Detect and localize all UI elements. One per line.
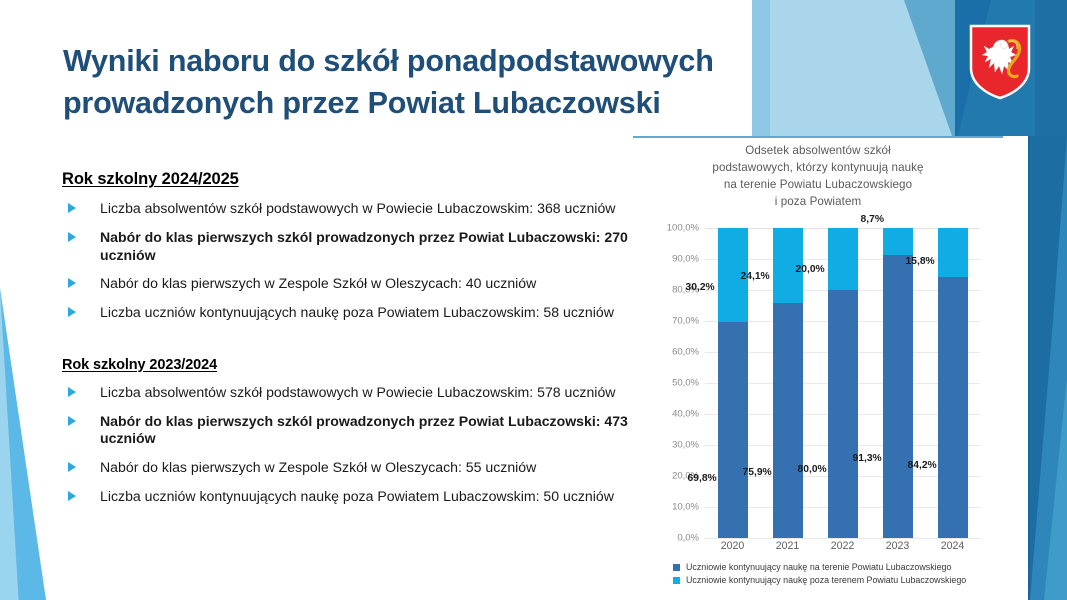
- y-axis-tick-label: 50,0%: [672, 378, 699, 389]
- bar-segment-local: [773, 303, 803, 538]
- bullet-arrow-icon: [68, 232, 76, 242]
- chart-title: Odsetek absolwentów szkół podstawowych, …: [633, 142, 1003, 211]
- header-shape-6: [1035, 0, 1067, 136]
- bullet-arrow-icon: [68, 307, 76, 317]
- list-item: Liczba uczniów kontynuujących naukę poza…: [62, 304, 632, 322]
- y-axis-tick-label: 70,0%: [672, 316, 699, 327]
- bullet-arrow-icon: [68, 203, 76, 213]
- bar-segment-local: [718, 322, 748, 538]
- y-axis-tick-label: 10,0%: [672, 502, 699, 513]
- x-axis-tick-label: 2022: [828, 540, 858, 552]
- list-item: Liczba absolwentów szkół podstawowych w …: [62, 200, 632, 218]
- list-item: Nabór do klas pierwszych szkól prowadzon…: [62, 413, 632, 449]
- legend-label: Uczniowie kontynuujący naukę na terenie …: [686, 562, 951, 572]
- list-item: Nabór do klas pierwszych w Zespole Szkół…: [62, 275, 632, 293]
- bar-segment-local: [828, 290, 858, 538]
- slide: Wyniki naboru do szkół ponadpodstawowych…: [0, 0, 1067, 600]
- y-axis-tick-label: 0,0%: [677, 533, 699, 544]
- chart-gridline: [705, 538, 980, 539]
- list-item: Nabór do klas pierwszych szkól prowadzon…: [62, 229, 632, 265]
- data-label-outside: 30,2%: [686, 282, 715, 293]
- chart-plot-area: 100,0%90,0%80,0%70,0%60,0%50,0%40,0%30,0…: [705, 228, 980, 538]
- bullet-arrow-icon: [68, 278, 76, 288]
- data-label-outside: 8,7%: [861, 214, 884, 225]
- data-label-outside: 20,0%: [796, 264, 825, 275]
- rail-divider-line: [1028, 136, 1030, 600]
- bullet-arrow-icon: [68, 462, 76, 472]
- bar-segment-outside: [938, 228, 968, 277]
- right-rail-decoration: [1000, 136, 1067, 600]
- list-item-label: Liczba absolwentów szkół podstawowych w …: [100, 200, 615, 216]
- chart-bar-2024: [938, 228, 968, 538]
- coat-of-arms-icon: [969, 24, 1031, 100]
- data-label-outside: 24,1%: [741, 271, 770, 282]
- list-item: Liczba uczniów kontynuujących naukę poza…: [62, 488, 632, 506]
- x-axis-tick-label: 2020: [718, 540, 748, 552]
- data-label-local: 75,9%: [743, 467, 772, 478]
- page-title-line-1: Wyniki naboru do szkół ponadpodstawowych: [63, 44, 714, 78]
- legend-label: Uczniowie kontynuujący naukę poza terene…: [686, 575, 966, 585]
- list-item-label: Liczba absolwentów szkół podstawowych w …: [100, 384, 615, 400]
- list-item-label: Nabór do klas pierwszych szkól prowadzon…: [100, 229, 628, 263]
- data-label-local: 69,8%: [688, 473, 717, 484]
- content-body: Rok szkolny 2024/2025 Liczba absolwentów…: [62, 170, 632, 517]
- chart-title-line-2: podstawowych, którzy kontynuują naukę: [633, 159, 1003, 176]
- list-item: Nabór do klas pierwszych w Zespole Szkół…: [62, 459, 632, 477]
- chart-bar-2022: [828, 228, 858, 538]
- data-label-local: 91,3%: [853, 453, 882, 464]
- list-item-label: Nabór do klas pierwszych szkól prowadzon…: [100, 413, 628, 447]
- x-axis-tick-label: 2024: [938, 540, 968, 552]
- section-heading-2023: Rok szkolny 2023/2024: [62, 357, 632, 373]
- bar-segment-outside: [828, 228, 858, 290]
- page-title-line-2: prowadzonych przez Powiat Lubaczowski: [63, 82, 853, 124]
- bullet-arrow-icon: [68, 491, 76, 501]
- chart-title-line-4: i poza Powiatem: [633, 193, 1003, 210]
- y-axis-tick-label: 30,0%: [672, 440, 699, 451]
- legend-swatch-dark-icon: [673, 564, 680, 571]
- bullet-list-2023: Liczba absolwentów szkół podstawowych w …: [62, 384, 632, 506]
- x-axis-tick-label: 2023: [883, 540, 913, 552]
- chart-panel: Odsetek absolwentów szkół podstawowych, …: [633, 136, 1003, 586]
- y-axis-tick-label: 100,0%: [667, 223, 699, 234]
- bullet-arrow-icon: [68, 387, 76, 397]
- x-axis-tick-label: 2021: [773, 540, 803, 552]
- list-item-label: Liczba uczniów kontynuujących naukę poza…: [100, 488, 614, 504]
- legend-item: Uczniowie kontynuujący naukę na terenie …: [673, 562, 1003, 572]
- data-label-outside: 15,8%: [906, 256, 935, 267]
- section-heading-2024: Rok szkolny 2024/2025: [62, 170, 632, 189]
- legend-swatch-light-icon: [673, 577, 680, 584]
- bar-segment-local: [938, 277, 968, 538]
- bar-segment-outside: [883, 228, 913, 255]
- data-label-local: 84,2%: [908, 460, 937, 471]
- list-item-label: Nabór do klas pierwszych w Zespole Szkół…: [100, 275, 536, 291]
- bullet-arrow-icon: [68, 416, 76, 426]
- section-spacer: [62, 333, 632, 357]
- bullet-list-2024: Liczba absolwentów szkół podstawowych w …: [62, 200, 632, 322]
- y-axis-tick-label: 40,0%: [672, 409, 699, 420]
- chart-legend: Uczniowie kontynuujący naukę na terenie …: [673, 562, 1003, 586]
- y-axis-tick-label: 60,0%: [672, 347, 699, 358]
- page-title: Wyniki naboru do szkół ponadpodstawowych…: [63, 40, 853, 124]
- legend-item: Uczniowie kontynuujący naukę poza terene…: [673, 575, 1003, 585]
- bar-segment-local: [883, 255, 913, 538]
- y-axis-tick-label: 90,0%: [672, 254, 699, 265]
- chart-title-line-1: Odsetek absolwentów szkół: [633, 142, 1003, 159]
- list-item-label: Nabór do klas pierwszych w Zespole Szkół…: [100, 459, 536, 475]
- list-item-label: Liczba uczniów kontynuujących naukę poza…: [100, 304, 614, 320]
- chart-title-line-3: na terenie Powiatu Lubaczowskiego: [633, 176, 1003, 193]
- list-item: Liczba absolwentów szkół podstawowych w …: [62, 384, 632, 402]
- data-label-local: 80,0%: [798, 464, 827, 475]
- chart-bar-2023: [883, 228, 913, 538]
